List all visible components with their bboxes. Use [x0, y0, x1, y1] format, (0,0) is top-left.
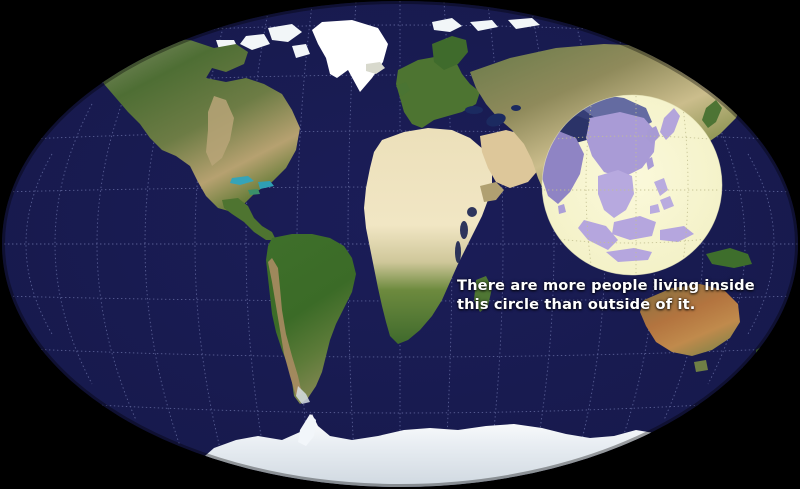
- landmass-tasmania: [694, 360, 708, 372]
- world-map-svg: [0, 0, 800, 489]
- world-map-figure: There are more people living inside this…: [0, 0, 800, 489]
